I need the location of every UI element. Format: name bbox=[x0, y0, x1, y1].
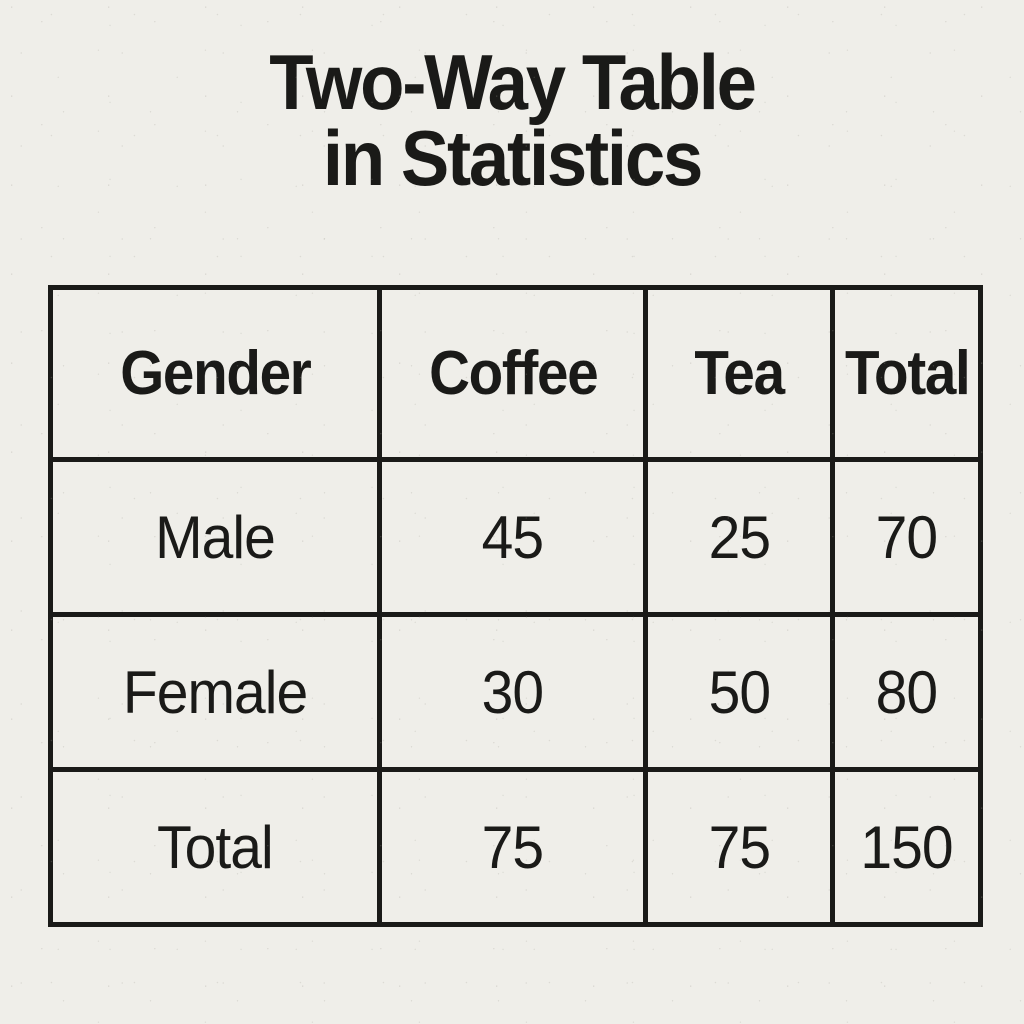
cell-text: 75 bbox=[708, 813, 770, 882]
poster-canvas: Two-Way Table in Statistics Gender Coffe… bbox=[0, 0, 1024, 1024]
cell-female-coffee: 30 bbox=[380, 615, 646, 770]
title-line-2: in Statistics bbox=[36, 120, 988, 196]
cell-text: 25 bbox=[708, 503, 770, 572]
cell-text: Total bbox=[157, 813, 273, 882]
header-label-gender: Gender bbox=[120, 338, 310, 409]
table-row: Female 30 50 80 bbox=[51, 615, 981, 770]
cell-text: 30 bbox=[482, 658, 544, 727]
cell-text: Male bbox=[155, 503, 275, 572]
cell-male-coffee: 45 bbox=[380, 460, 646, 615]
header-cell-coffee: Coffee bbox=[385, 288, 640, 460]
cell-total-tea: 75 bbox=[646, 770, 833, 925]
cell-text: 45 bbox=[482, 503, 544, 572]
table-row: Total 75 75 150 bbox=[51, 770, 981, 925]
cell-male-total: 70 bbox=[833, 460, 981, 615]
two-way-table-container: Gender Coffee Tea Total Male bbox=[48, 285, 978, 898]
table-row: Male 45 25 70 bbox=[51, 460, 981, 615]
header-label-total: Total bbox=[844, 338, 968, 409]
cell-text: 75 bbox=[482, 813, 544, 882]
cell-text: Female bbox=[123, 658, 307, 727]
header-cell-total: Total bbox=[835, 288, 977, 460]
row-label-male: Male bbox=[51, 460, 380, 615]
cell-total-total: 150 bbox=[833, 770, 981, 925]
row-label-female: Female bbox=[51, 615, 380, 770]
cell-total-coffee: 75 bbox=[380, 770, 646, 925]
cell-male-tea: 25 bbox=[646, 460, 833, 615]
cell-female-total: 80 bbox=[833, 615, 981, 770]
table-header-row: Gender Coffee Tea Total bbox=[51, 288, 981, 460]
row-label-total: Total bbox=[51, 770, 380, 925]
cell-female-tea: 50 bbox=[646, 615, 833, 770]
cell-text: 70 bbox=[876, 503, 938, 572]
cell-text: 50 bbox=[708, 658, 770, 727]
header-label-tea: Tea bbox=[694, 338, 783, 409]
cell-text: 150 bbox=[860, 813, 952, 882]
page-title: Two-Way Table in Statistics bbox=[0, 44, 1024, 197]
cell-text: 80 bbox=[876, 658, 938, 727]
two-way-table: Gender Coffee Tea Total Male bbox=[48, 285, 983, 927]
header-label-coffee: Coffee bbox=[428, 338, 596, 409]
header-cell-tea: Tea bbox=[649, 288, 829, 460]
title-line-1: Two-Way Table bbox=[36, 44, 988, 120]
header-cell-gender: Gender bbox=[57, 288, 373, 460]
